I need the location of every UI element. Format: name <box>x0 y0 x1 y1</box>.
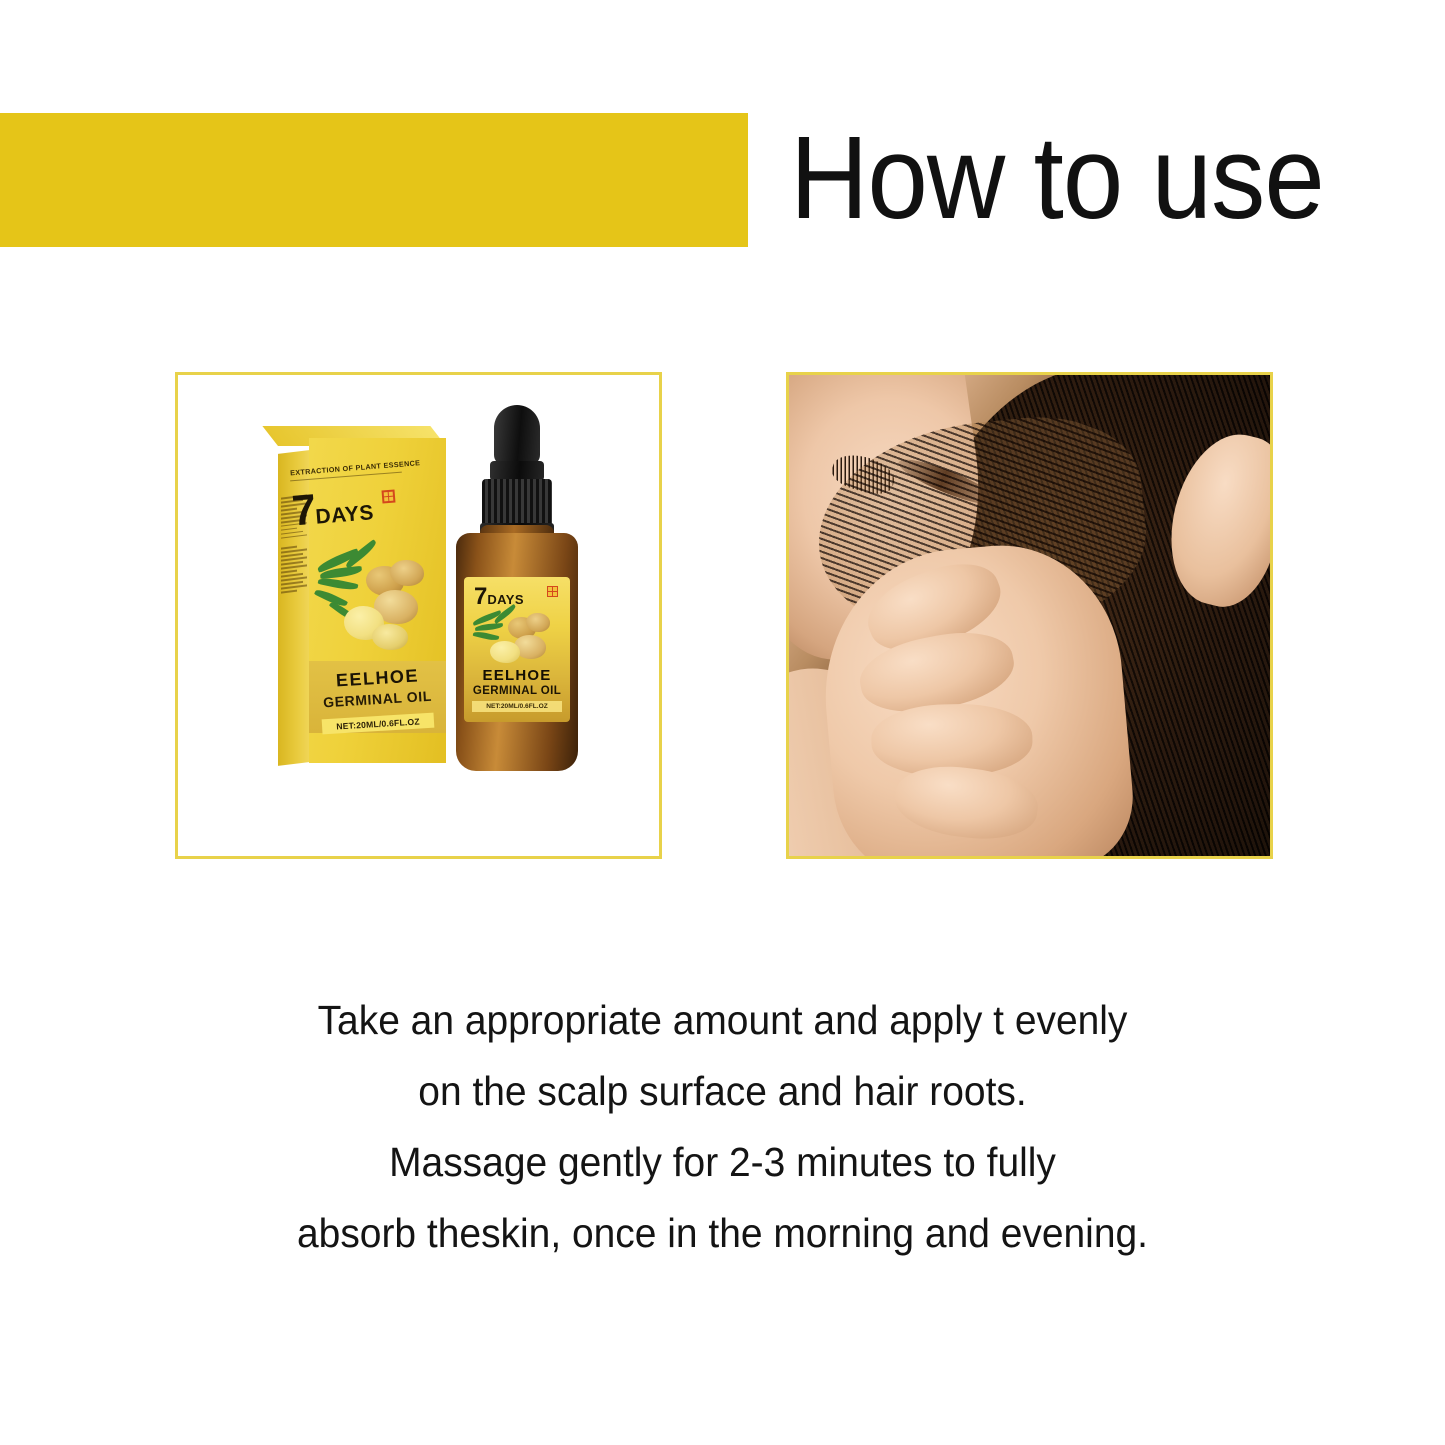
instruction-line: absorb theskin, once in the morning and … <box>36 1198 1409 1269</box>
instruction-line: on the scalp surface and hair roots. <box>36 1056 1409 1127</box>
bottle-product-name: GERMINAL OIL <box>464 685 570 697</box>
carton-days-number: 7 <box>290 486 317 536</box>
four-square-logo-icon <box>382 490 396 504</box>
instruction-line: Massage gently for 2-3 minutes to fully <box>36 1127 1409 1198</box>
bottle-net-content: NET:20ML/0.6FL.OZ <box>472 701 562 712</box>
dropper-cap-ridges <box>482 479 552 527</box>
instruction-line: Take an appropriate amount and apply t e… <box>36 985 1409 1056</box>
scalp-massage-photo <box>789 375 1270 856</box>
usage-instructions: Take an appropriate amount and apply t e… <box>0 985 1445 1269</box>
bottle-label: 7DAYS EELHOE <box>464 577 570 722</box>
bottle-days-word: DAYS <box>487 592 524 607</box>
bottle-ginger-root-icon <box>472 611 564 663</box>
bottle-four-square-logo-icon <box>547 586 558 597</box>
ginger-root-icon <box>314 550 442 658</box>
carton-days-word: DAYS <box>315 501 375 529</box>
dropper-bulb-icon <box>494 405 540 465</box>
dropper-neck <box>490 461 544 481</box>
bottle-seven-days: 7DAYS <box>474 585 524 609</box>
scalp-massage-photo-panel <box>786 372 1273 859</box>
product-carton: EXTRACTION OF PLANT ESSENCE 7DAYS <box>278 438 446 763</box>
bottle-days-number: 7 <box>474 583 487 610</box>
dropper-bottle: 7DAYS EELHOE <box>450 405 584 775</box>
product-image-panel: EXTRACTION OF PLANT ESSENCE 7DAYS <box>175 372 662 859</box>
product-illustration: EXTRACTION OF PLANT ESSENCE 7DAYS <box>178 375 659 856</box>
bottle-brand-name: EELHOE <box>464 667 570 684</box>
